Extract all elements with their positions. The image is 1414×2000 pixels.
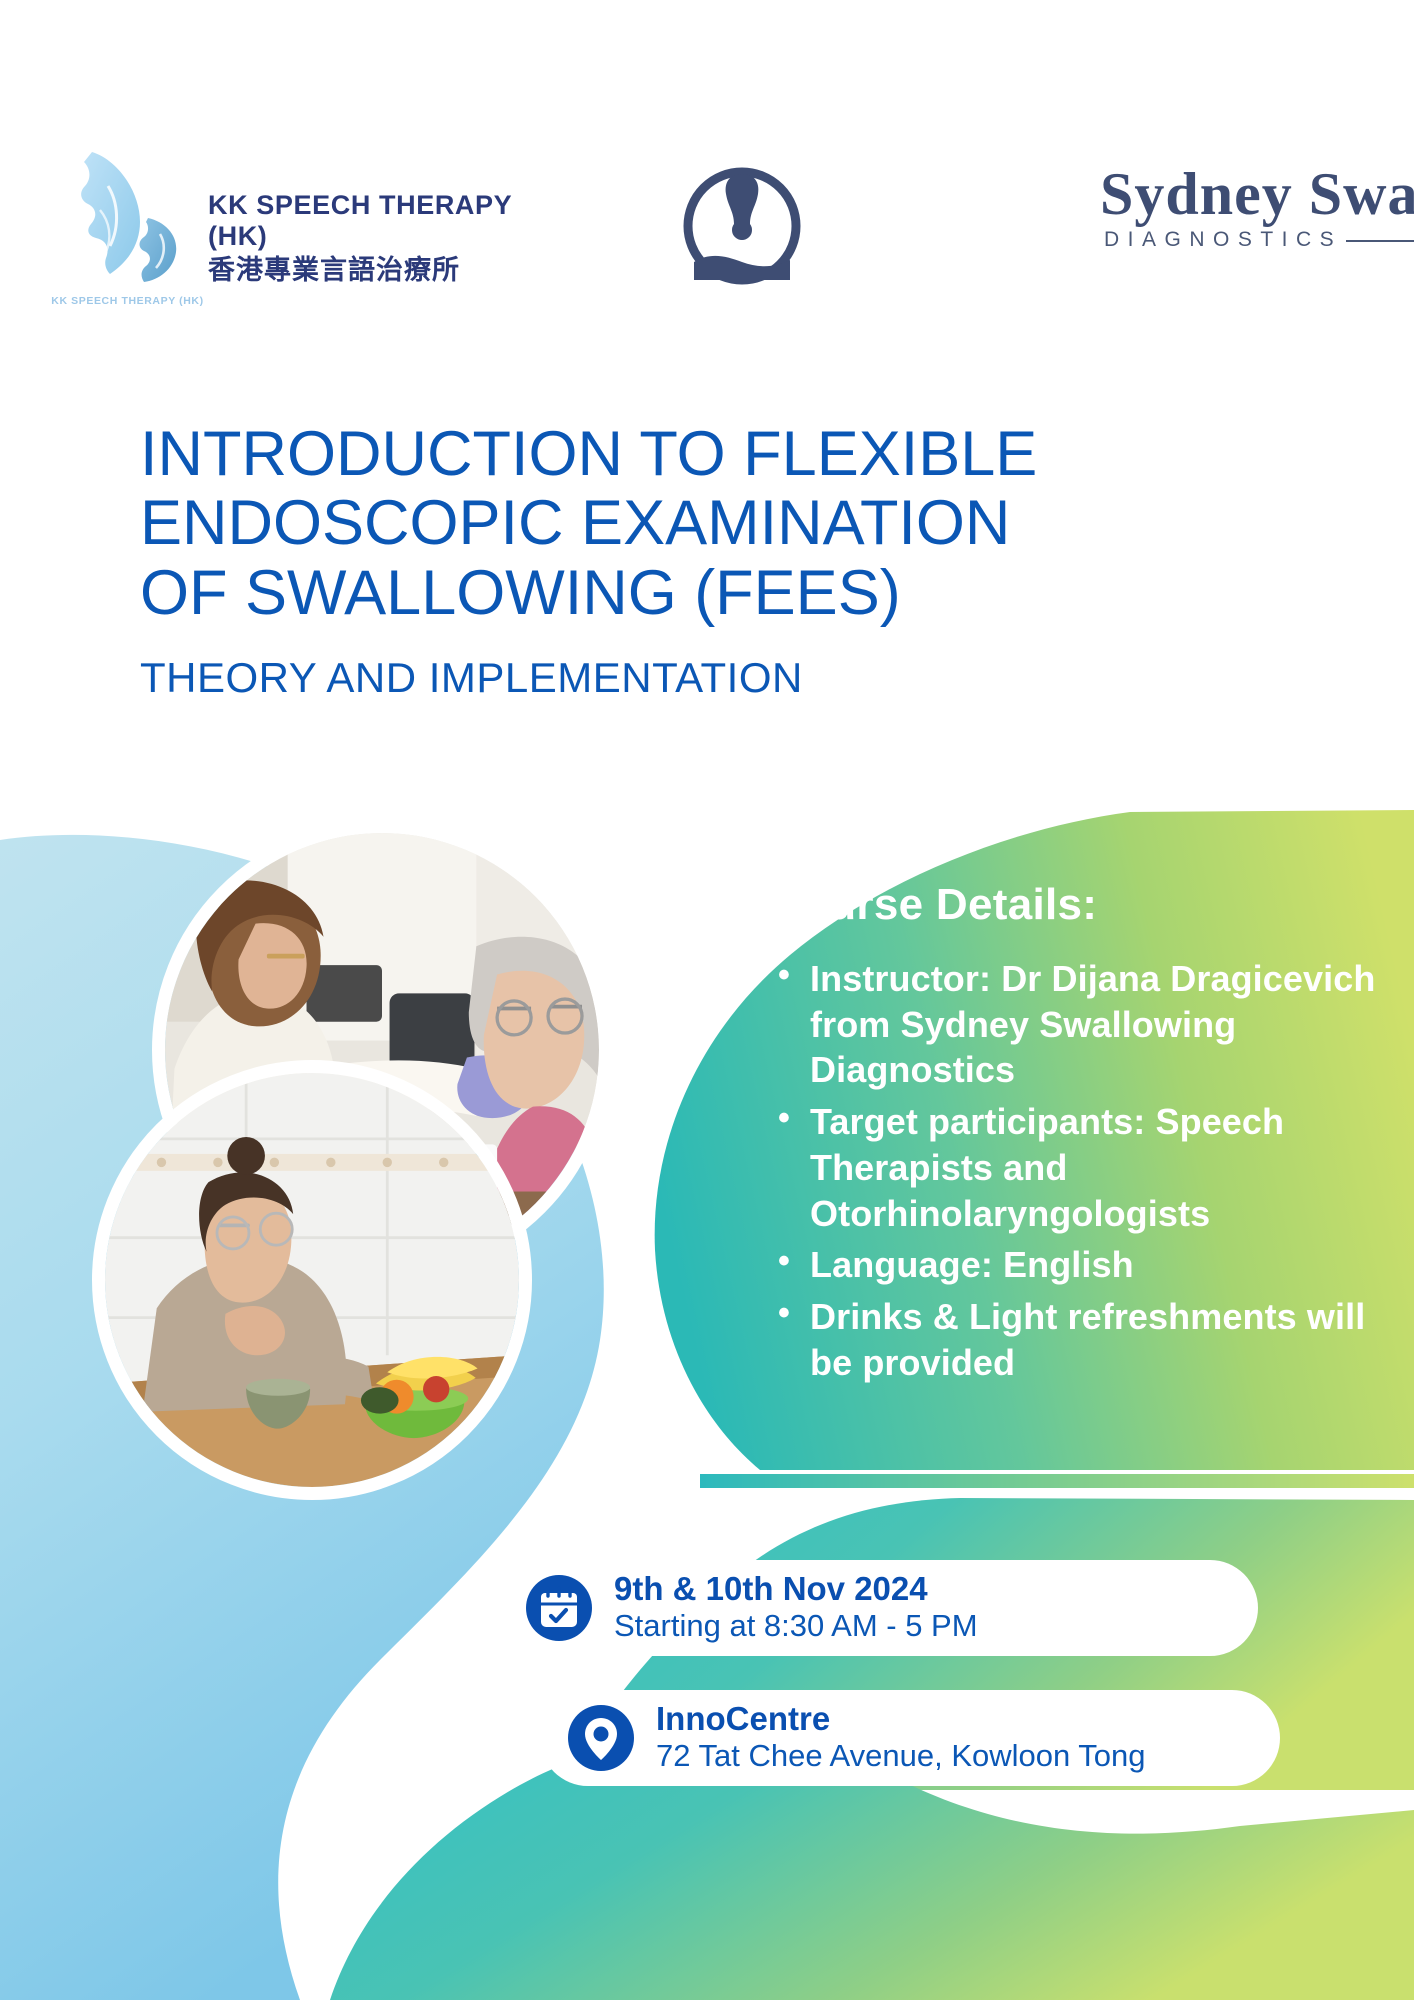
- date-secondary: Starting at 8:30 AM - 5 PM: [614, 1608, 978, 1645]
- photo-woman-difficulty-image: [105, 1073, 519, 1487]
- kk-logo-caption: KK SPEECH THERAPY (HK): [35, 295, 220, 307]
- list-item: Target participants: Speech Therapists a…: [810, 1099, 1390, 1236]
- ssd-name: Sydney Swallowing: [1100, 160, 1414, 229]
- course-details-heading: Course Details:: [770, 880, 1390, 930]
- venue-info-pill: InnoCentre 72 Tat Chee Avenue, Kowloon T…: [540, 1690, 1280, 1786]
- date-primary: 9th & 10th Nov 2024: [614, 1571, 978, 1608]
- title-line-1: INTRODUCTION TO FLEXIBLE: [140, 420, 1300, 489]
- ssd-divider-line: [1346, 240, 1414, 242]
- ssd-subtitle-row: DIAGNOSTICS: [1104, 228, 1414, 252]
- page-title: INTRODUCTION TO FLEXIBLE ENDOSCOPIC EXAM…: [140, 420, 1300, 628]
- list-item: Instructor: Dr Dijana Dragicevich from S…: [810, 956, 1390, 1093]
- kk-speech-therapy-logo: KK SPEECH THERAPY (HK) KK SPEECH THERAPY…: [30, 140, 530, 330]
- venue-primary: InnoCentre: [656, 1701, 1146, 1738]
- poster-title-block: INTRODUCTION TO FLEXIBLE ENDOSCOPIC EXAM…: [140, 420, 1300, 702]
- list-item: Language: English: [810, 1242, 1390, 1288]
- page-subtitle: THEORY AND IMPLEMENTATION: [140, 654, 1300, 702]
- date-info-pill: 9th & 10th Nov 2024 Starting at 8:30 AM …: [498, 1560, 1258, 1656]
- title-line-3: OF SWALLOWING (FEES): [140, 559, 1300, 628]
- logo-row: KK SPEECH THERAPY (HK) KK SPEECH THERAPY…: [0, 120, 1414, 320]
- calendar-icon: [526, 1575, 592, 1641]
- kk-name-en: KK SPEECH THERAPY (HK): [208, 190, 530, 252]
- course-details-panel: Course Details: Instructor: Dr Dijana Dr…: [770, 880, 1390, 1391]
- title-line-2: ENDOSCOPIC EXAMINATION: [140, 489, 1300, 558]
- course-details-list: Instructor: Dr Dijana Dragicevich from S…: [770, 956, 1390, 1385]
- venue-info-text: InnoCentre 72 Tat Chee Avenue, Kowloon T…: [656, 1701, 1180, 1775]
- location-pin-icon: [568, 1705, 634, 1771]
- poster-root: KK SPEECH THERAPY (HK) KK SPEECH THERAPY…: [0, 0, 1414, 2000]
- larynx-circle-icon: [680, 164, 804, 288]
- butterfly-icon: [48, 140, 198, 295]
- date-info-text: 9th & 10th Nov 2024 Starting at 8:30 AM …: [614, 1571, 1012, 1645]
- sydney-swallowing-diagnostics-logo: Sydney Swallowing DIAGNOSTICS: [552, 142, 1392, 322]
- ssd-subtitle: DIAGNOSTICS: [1104, 228, 1342, 252]
- list-item: Drinks & Light refreshments will be prov…: [810, 1294, 1390, 1385]
- kk-name-zh: 香港專業言語治療所: [208, 254, 530, 288]
- photo-woman-difficulty: [92, 1060, 532, 1500]
- kk-logo-text: KK SPEECH THERAPY (HK) 香港專業言語治療所: [208, 190, 530, 288]
- venue-secondary: 72 Tat Chee Avenue, Kowloon Tong: [656, 1738, 1146, 1775]
